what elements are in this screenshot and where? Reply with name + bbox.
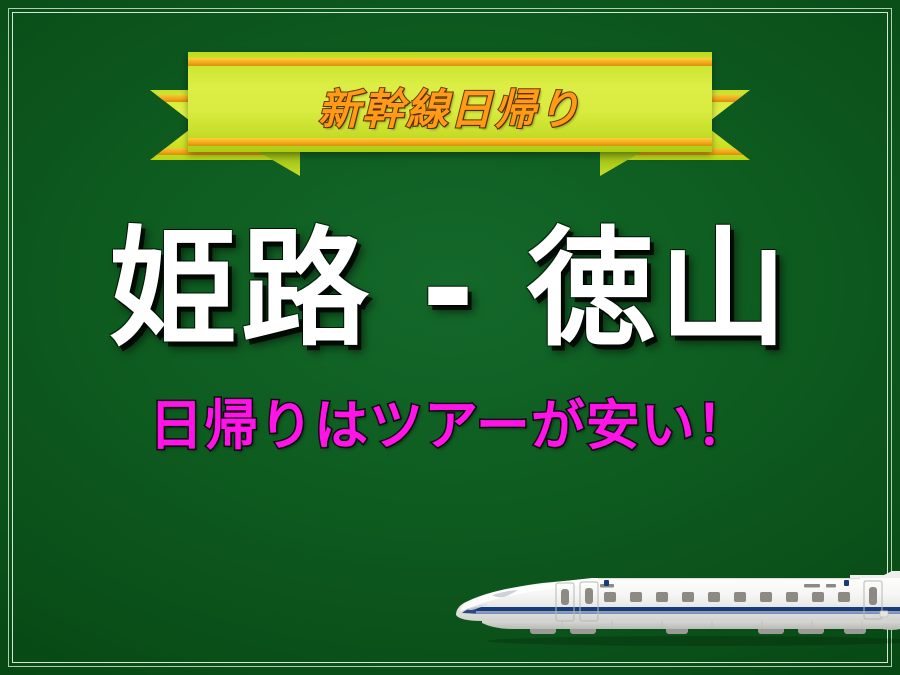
subtitle: 日帰りはツアーが安い！ [0,396,900,455]
ribbon-banner: 新幹線日帰り [150,52,750,160]
ribbon-label: 新幹線日帰り [150,52,750,160]
shinkansen-train-icon [452,563,900,653]
promo-banner: 新幹線日帰り 姫路 - 徳山 日帰りはツアーが安い！ [0,0,900,675]
page-title: 姫路 - 徳山 [0,226,900,354]
